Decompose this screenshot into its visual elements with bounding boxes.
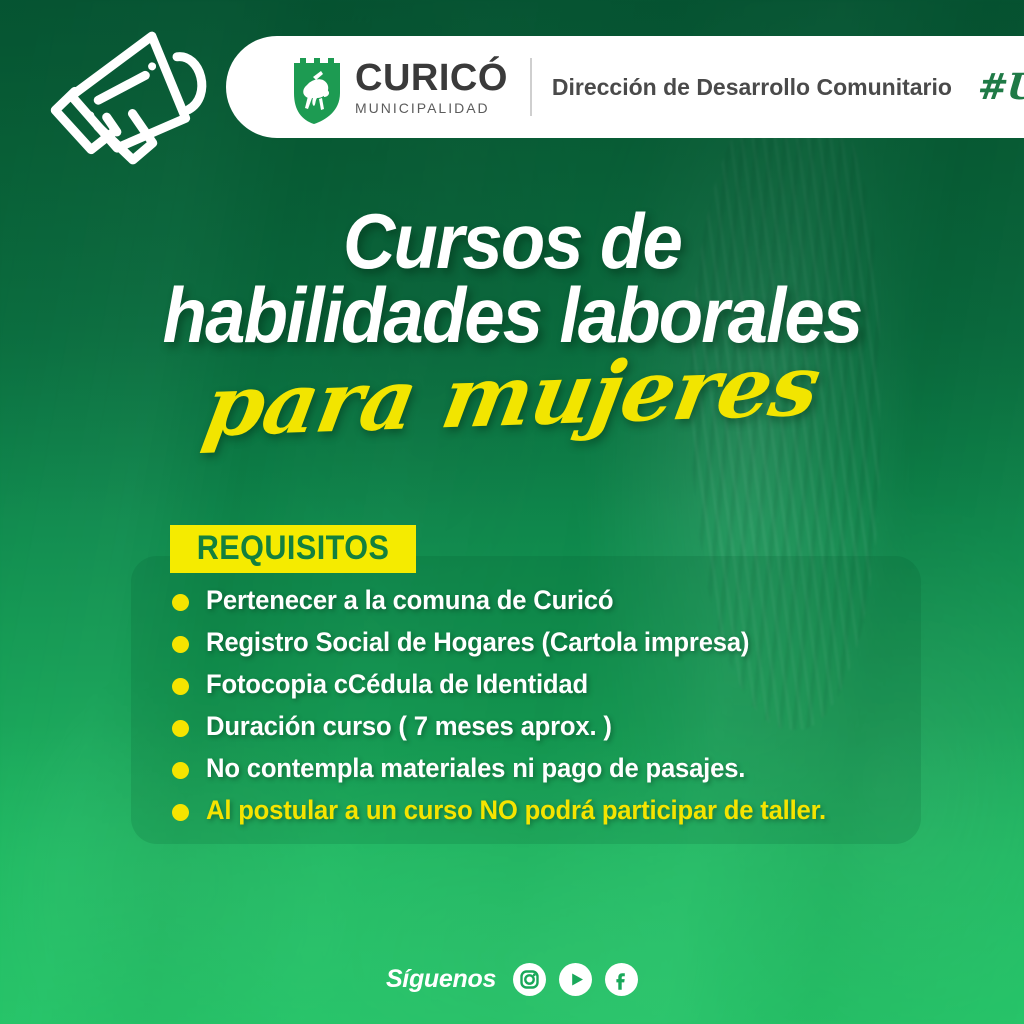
bullet-dot xyxy=(172,762,189,779)
facebook-icon[interactable] xyxy=(605,963,638,996)
footer-social-bar: Síguenos xyxy=(0,963,1024,996)
list-item: Fotocopia cCédula de Identidad xyxy=(172,669,912,700)
requirements-list: Pertenecer a la comuna de Curicó Registr… xyxy=(172,585,912,826)
bullet-dot xyxy=(172,720,189,737)
brand-subtitle: MUNICIPALIDAD xyxy=(355,101,508,115)
follow-label: Síguenos xyxy=(386,965,496,994)
requirement-text: Al postular a un curso NO podrá particip… xyxy=(206,795,826,826)
curico-coat-of-arms-icon xyxy=(288,49,346,125)
brand-name: CURICÓ xyxy=(355,59,508,97)
title-line-2: habilidades laborales xyxy=(36,280,988,352)
list-item: Al postular a un curso NO podrá particip… xyxy=(172,795,912,826)
bullet-dot xyxy=(172,594,189,611)
requirements-badge: REQUISITOS xyxy=(170,525,416,573)
instagram-icon[interactable] xyxy=(513,963,546,996)
list-item: Registro Social de Hogares (Cartola impr… xyxy=(172,627,912,658)
header-divider xyxy=(530,58,532,116)
promotional-poster: CURICÓ MUNICIPALIDAD Dirección de Desarr… xyxy=(0,0,1024,1024)
requirement-text: Fotocopia cCédula de Identidad xyxy=(206,669,588,700)
title-line-1: Cursos de xyxy=(36,206,988,278)
bullet-dot xyxy=(172,804,189,821)
list-item: Pertenecer a la comuna de Curicó xyxy=(172,585,912,616)
youtube-icon[interactable] xyxy=(559,963,592,996)
header-bar: CURICÓ MUNICIPALIDAD Dirección de Desarr… xyxy=(226,36,1024,138)
bullet-dot xyxy=(172,678,189,695)
requirement-text: Registro Social de Hogares (Cartola impr… xyxy=(206,627,749,658)
megaphone-icon xyxy=(22,6,236,216)
requirement-text: No contempla materiales ni pago de pasaj… xyxy=(206,753,745,784)
requirement-text: Pertenecer a la comuna de Curicó xyxy=(206,585,613,616)
bullet-dot xyxy=(172,636,189,653)
list-item: Duración curso ( 7 meses aprox. ) xyxy=(172,711,912,742)
department-title: Dirección de Desarrollo Comunitario xyxy=(552,74,952,101)
brand-block: CURICÓ MUNICIPALIDAD xyxy=(355,59,508,115)
list-item: No contempla materiales ni pago de pasaj… xyxy=(172,753,912,784)
title-script-line: para mujeres xyxy=(197,335,827,455)
requirements-badge-label: REQUISITOS xyxy=(197,531,390,565)
hashtag-unidos: #Unidos xyxy=(976,66,1024,108)
poster-title: Cursos de habilidades laborales para muj… xyxy=(0,206,1024,445)
requirement-text: Duración curso ( 7 meses aprox. ) xyxy=(206,711,612,742)
